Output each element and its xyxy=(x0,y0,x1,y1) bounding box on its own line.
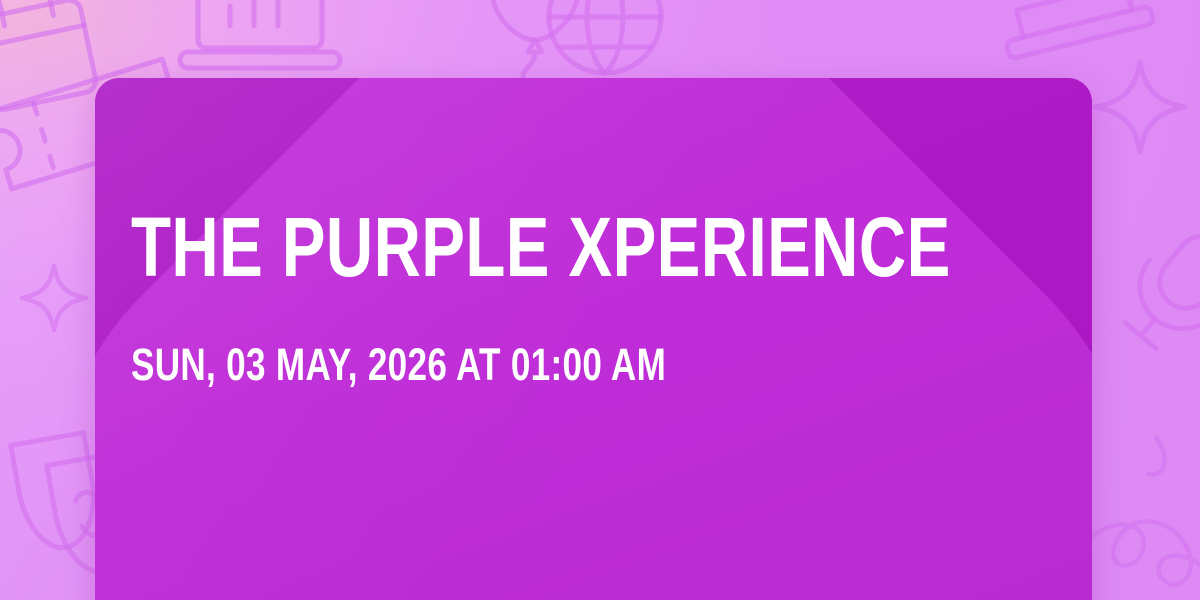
event-date-time: SUN, 03 MAY, 2026 AT 01:00 AM xyxy=(131,342,666,387)
event-title: THE PURPLE XPERIENCE xyxy=(131,208,951,288)
microphone-icon xyxy=(1110,214,1200,364)
calendar-icon xyxy=(0,0,110,124)
sparkle-small-icon xyxy=(14,258,94,338)
event-poster: THE PURPLE XPERIENCE SUN, 03 MAY, 2026 A… xyxy=(0,0,1200,600)
event-card[interactable]: THE PURPLE XPERIENCE SUN, 03 MAY, 2026 A… xyxy=(95,78,1092,600)
sparkle-icon xyxy=(1085,52,1195,162)
